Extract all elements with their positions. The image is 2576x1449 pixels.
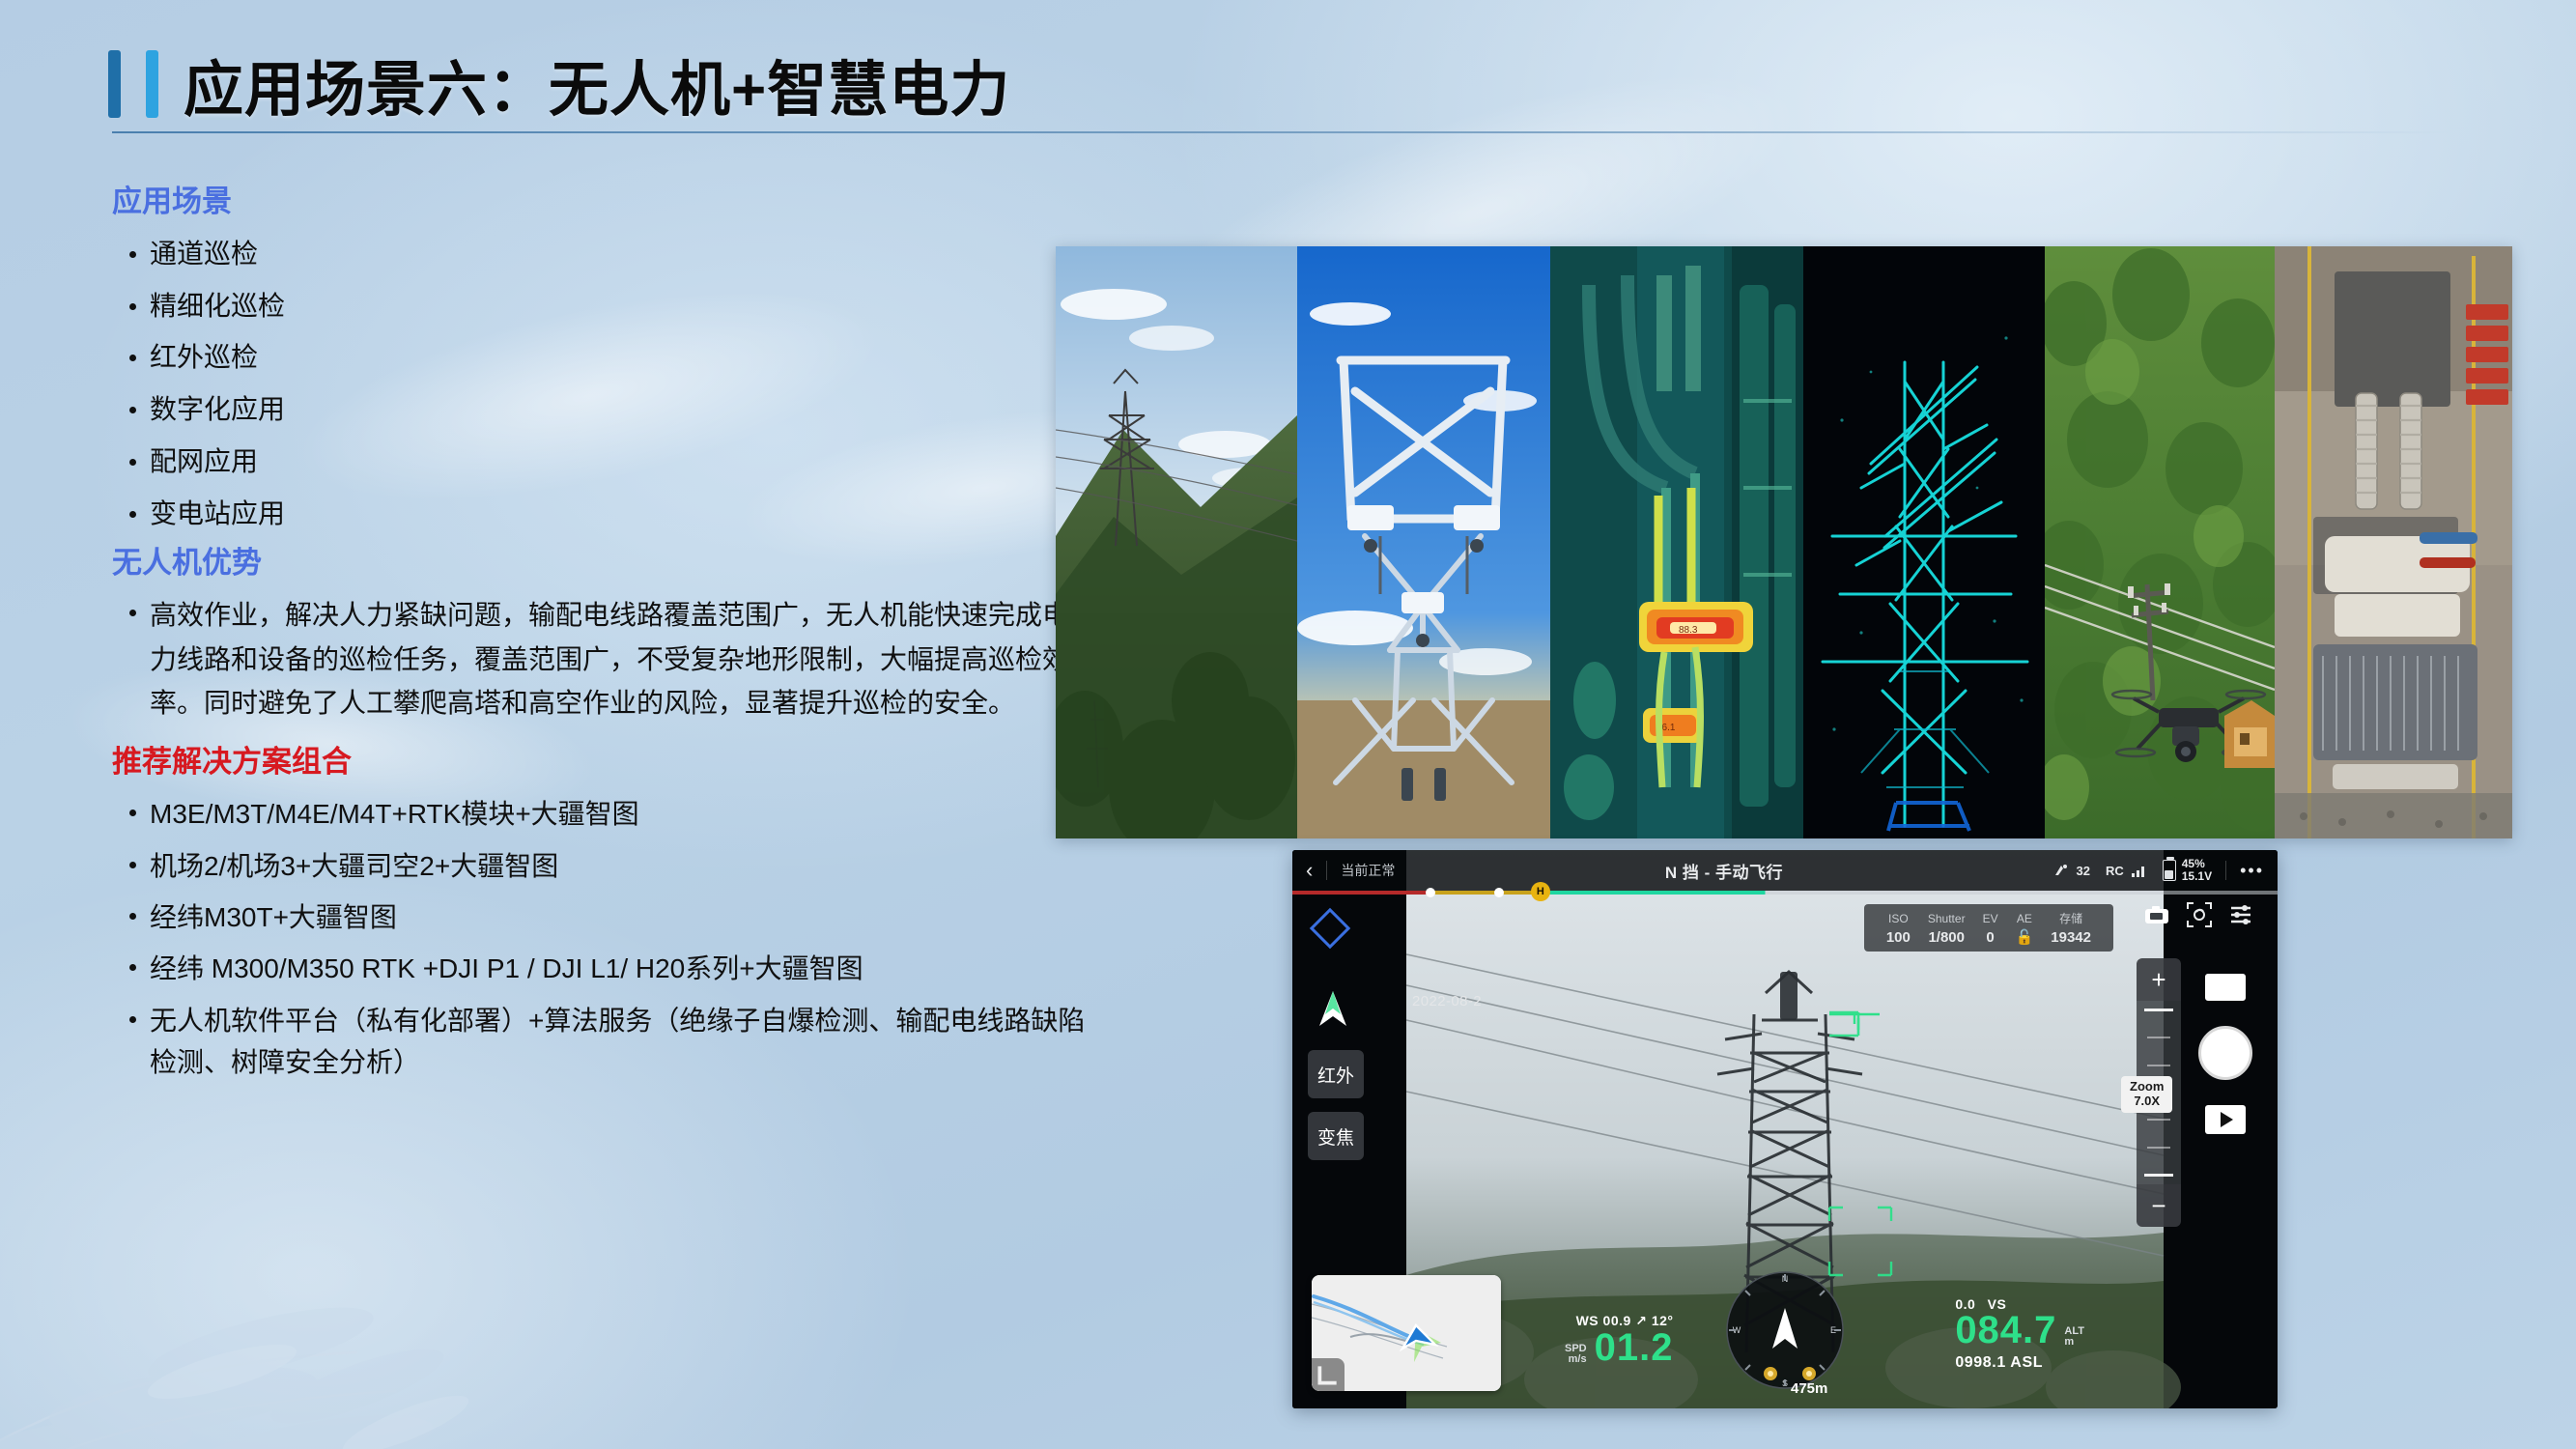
page-title: 应用场景六：无人机+智慧电力 bbox=[184, 41, 1010, 128]
speed-readout: SPD m/s 01.2 bbox=[1565, 1329, 1673, 1366]
bullet-dot bbox=[129, 355, 136, 361]
compass-widget[interactable]: NESW 475m bbox=[1720, 1265, 1850, 1395]
zoom-track[interactable]: Zoom 7.0X bbox=[2137, 1001, 2181, 1184]
photo-tower-fitting-closeup bbox=[1297, 246, 1550, 838]
rc-signal: RC bbox=[2106, 864, 2147, 878]
list-item: 数字化应用 bbox=[112, 384, 1088, 436]
telemetry-overlay: WS 00.9 ↗ 12° SPD m/s 01.2 0.0 VS bbox=[1292, 1273, 2278, 1399]
photo-thermal-infrared-inspection: 88.3 76.1 bbox=[1550, 246, 1803, 838]
left-content-column: 应用场景 通道巡检 精细化巡检 红外巡检 数字化应用 配网应用 变电站应用 无人… bbox=[112, 182, 1088, 1088]
bullet-dot bbox=[129, 913, 136, 920]
asl-readout: 0998.1 ASL bbox=[1955, 1354, 2084, 1372]
bullet-dot bbox=[129, 810, 136, 816]
zoom-in-button[interactable]: + bbox=[2137, 958, 2181, 1001]
divider bbox=[1326, 861, 1327, 880]
photo-transmission-tower-valley bbox=[1056, 246, 1297, 838]
zoom-slider[interactable]: + Zoom 7.0X − bbox=[2137, 958, 2181, 1227]
hud-value-shutter: 1/800 bbox=[1919, 928, 1974, 946]
controller-topbar: ‹ 当前正常 N 挡 - 手动飞行 32 RC bbox=[1292, 850, 2278, 891]
list-item: 经纬M30T+大疆智图 bbox=[112, 892, 1088, 943]
list-item-label: 配网应用 bbox=[150, 442, 1088, 481]
hud-value-iso: 100 bbox=[1878, 928, 1919, 946]
bullet-dot bbox=[129, 407, 136, 413]
zoom-tick bbox=[2147, 1119, 2170, 1121]
list-item: M3E/M3T/M4E/M4T+RTK模块+大疆智图 bbox=[112, 788, 1088, 839]
hud-icon-row bbox=[2144, 902, 2252, 927]
zoom-tick bbox=[2147, 1147, 2170, 1149]
list-item: 无人机软件平台（私有化部署）+算法服务（绝缘子自爆检测、输配电线路缺陷检测、树障… bbox=[112, 995, 1088, 1089]
section-heading-scenarios: 应用场景 bbox=[112, 182, 1088, 222]
bullet-dot bbox=[129, 459, 136, 466]
list-item-label: 通道巡检 bbox=[150, 235, 1088, 273]
status-knob bbox=[1426, 888, 1435, 897]
page-title-row: 应用场景六：无人机+智慧电力 bbox=[108, 41, 1010, 128]
list-item: 配网应用 bbox=[112, 436, 1088, 488]
list-item-label: M3E/M3T/M4E/M4T+RTK模块+大疆智图 bbox=[150, 793, 1088, 835]
satellite-icon bbox=[2053, 864, 2069, 877]
list-item: 精细化巡检 bbox=[112, 280, 1088, 332]
left-control-group: 红外 变焦 bbox=[1306, 904, 1364, 1160]
gimbal-diamond-icon bbox=[1310, 908, 1350, 949]
list-item-label: 数字化应用 bbox=[150, 390, 1088, 429]
chevron-left-icon: ‹ bbox=[1306, 860, 1313, 881]
hud-value-storage: 19342 bbox=[2042, 928, 2100, 946]
list-item-label: 经纬M30T+大疆智图 bbox=[150, 896, 1088, 938]
distance-label: 475m bbox=[1791, 1380, 1827, 1397]
satellite-count: 32 bbox=[2077, 864, 2090, 878]
slide-canvas: 应用场景六：无人机+智慧电力 应用场景 通道巡检 精细化巡检 红外巡检 数字化应… bbox=[0, 0, 2576, 1449]
satellite-status: 32 bbox=[2053, 864, 2090, 878]
camera-icon[interactable] bbox=[2144, 905, 2169, 924]
zoom-tick bbox=[2144, 1174, 2173, 1177]
photo-strip: 88.3 76.1 bbox=[1056, 246, 2512, 838]
scenario-list: 通道巡检 精细化巡检 红外巡检 数字化应用 配网应用 变电站应用 bbox=[112, 228, 1088, 540]
list-item: 高效作业，解决人力紧缺问题，输配电线路覆盖范围广，无人机能快速完成电力线路和设备… bbox=[112, 589, 1088, 728]
zoom-level-badge: Zoom 7.0X bbox=[2121, 1076, 2172, 1113]
video-timestamp: 2022-08-2 bbox=[1412, 993, 1482, 1009]
list-item-label: 高效作业，解决人力紧缺问题，输配电线路覆盖范围广，无人机能快速完成电力线路和设备… bbox=[150, 593, 1088, 724]
zoom-tick bbox=[2144, 1009, 2173, 1011]
telemetry-right: 0.0 VS 084.7 ALT m 0998.1 ASL bbox=[1955, 1296, 2084, 1372]
title-accent-bar-dark bbox=[108, 50, 121, 118]
battery-icon bbox=[2163, 860, 2176, 881]
zoom-badge-value: 7.0X bbox=[2130, 1094, 2164, 1109]
solution-list: M3E/M3T/M4E/M4T+RTK模块+大疆智图 机场2/机场3+大疆司空2… bbox=[112, 788, 1088, 1088]
focus-target-icon[interactable] bbox=[2187, 902, 2212, 927]
alt-unit: m bbox=[2064, 1337, 2084, 1349]
infrared-button[interactable]: 红外 bbox=[1308, 1050, 1364, 1098]
photo-substation-aerial bbox=[2275, 246, 2512, 838]
altitude-readout: 084.7 ALT m bbox=[1955, 1312, 2084, 1349]
flight-status-text: 当前正常 bbox=[1341, 861, 1395, 880]
sliders-icon[interactable] bbox=[2229, 904, 2252, 925]
zoom-tick bbox=[2147, 1037, 2170, 1038]
signal-bars-icon bbox=[2132, 865, 2147, 877]
heading-arrow-icon bbox=[1312, 987, 1354, 1032]
telemetry-left: WS 00.9 ↗ 12° SPD m/s 01.2 bbox=[1565, 1313, 1673, 1366]
list-item: 通道巡检 bbox=[112, 228, 1088, 280]
bullet-dot bbox=[129, 251, 136, 258]
hud-value-ev: 0 bbox=[1974, 928, 2007, 946]
section-heading-advantages: 无人机优势 bbox=[112, 543, 1088, 583]
title-divider bbox=[112, 131, 2449, 133]
back-button[interactable]: ‹ bbox=[1306, 860, 1313, 881]
spd-unit: m/s bbox=[1565, 1354, 1587, 1366]
section-heading-solutions: 推荐解决方案组合 bbox=[112, 742, 1088, 782]
advantage-list: 高效作业，解决人力紧缺问题，输配电线路覆盖范围广，无人机能快速完成电力线路和设备… bbox=[112, 589, 1088, 728]
shutter-button-icon[interactable] bbox=[2198, 1026, 2252, 1080]
list-item-label: 精细化巡检 bbox=[150, 287, 1088, 326]
list-item: 机场2/机场3+大疆司空2+大疆智图 bbox=[112, 840, 1088, 892]
capture-control-group bbox=[2198, 974, 2252, 1134]
flight-status-bar: H bbox=[1292, 891, 2278, 895]
photo-lidar-point-cloud-tower bbox=[1803, 246, 2045, 838]
bullet-dot bbox=[129, 303, 136, 310]
title-accent-bar-light bbox=[146, 50, 158, 118]
zoom-mode-button[interactable]: 变焦 bbox=[1308, 1112, 1364, 1160]
flight-mode-label: N 挡 - 手动飞行 bbox=[1665, 859, 1783, 883]
list-item-label: 变电站应用 bbox=[150, 495, 1088, 533]
spd-value: 01.2 bbox=[1595, 1329, 1674, 1366]
bullet-dot bbox=[129, 964, 136, 971]
bullet-dot bbox=[129, 511, 136, 518]
list-item: 红外巡检 bbox=[112, 331, 1088, 384]
zoom-out-button[interactable]: − bbox=[2137, 1184, 2181, 1227]
list-item: 变电站应用 bbox=[112, 488, 1088, 540]
playback-icon[interactable] bbox=[2205, 1105, 2246, 1134]
battery-readout: 45% 15.1V bbox=[2182, 858, 2212, 882]
photo-distribution-line-drone bbox=[2045, 246, 2275, 838]
hud-value-ae-lock: 🔓 bbox=[2007, 928, 2043, 946]
list-item-label: 经纬 M300/M350 RTK +DJI P1 / DJI L1/ H20系列… bbox=[150, 948, 1088, 989]
zoom-badge-label: Zoom bbox=[2130, 1080, 2164, 1094]
hud-label-shutter: Shutter bbox=[1919, 910, 1974, 928]
list-item-label: 机场2/机场3+大疆司空2+大疆智图 bbox=[150, 845, 1088, 887]
hud-label-ev: EV bbox=[1974, 910, 2007, 928]
hud-label-ae: AE bbox=[2007, 910, 2043, 928]
battery-voltage: 15.1V bbox=[2182, 870, 2212, 883]
drone-controller-screenshot: ‹ 当前正常 N 挡 - 手动飞行 32 RC bbox=[1292, 850, 2278, 1408]
hud-label-iso: ISO bbox=[1878, 910, 1919, 928]
alt-value: 084.7 bbox=[1955, 1312, 2056, 1349]
camera-settings-hud[interactable]: ISO Shutter EV AE 存储 100 1/800 0 🔓 19342 bbox=[1864, 904, 2113, 952]
home-point-marker: H bbox=[1531, 882, 1550, 901]
hud-label-storage: 存储 bbox=[2042, 910, 2100, 928]
battery-status: 45% 15.1V bbox=[2163, 858, 2212, 882]
list-item-label: 无人机软件平台（私有化部署）+算法服务（绝缘子自爆检测、输配电线路缺陷检测、树障… bbox=[150, 1000, 1088, 1084]
list-item: 经纬 M300/M350 RTK +DJI P1 / DJI L1/ H20系列… bbox=[112, 943, 1088, 994]
more-dots-icon[interactable]: ••• bbox=[2240, 861, 2264, 881]
rc-label: RC bbox=[2106, 864, 2124, 878]
zoom-tick bbox=[2147, 1065, 2170, 1066]
list-item-label: 红外巡检 bbox=[150, 338, 1088, 377]
divider bbox=[2225, 861, 2226, 880]
bullet-dot bbox=[129, 610, 136, 616]
bullet-dot bbox=[129, 862, 136, 868]
photo-mode-icon[interactable] bbox=[2205, 974, 2246, 1001]
bullet-dot bbox=[129, 1016, 136, 1023]
svg-text:88.3: 88.3 bbox=[1679, 625, 1698, 636]
